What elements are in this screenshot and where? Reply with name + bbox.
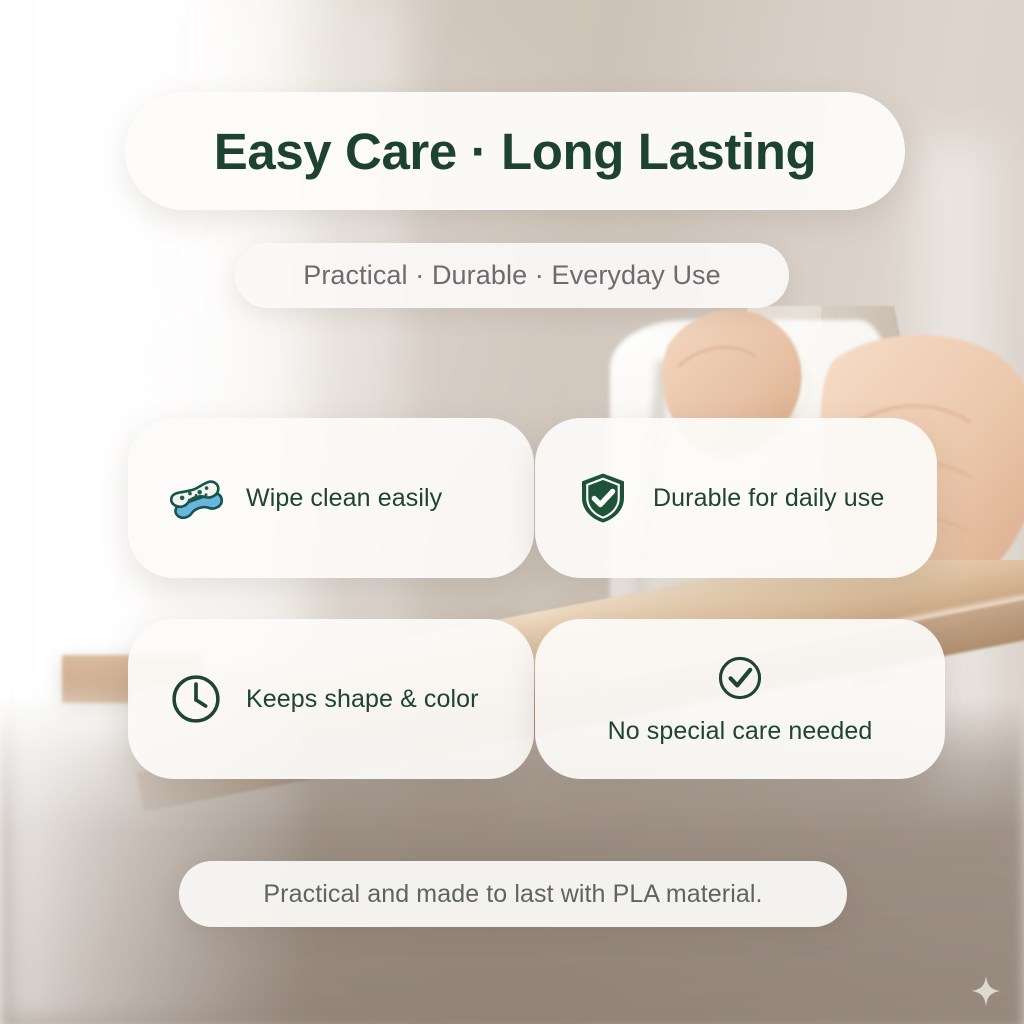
- clock-icon: [168, 671, 224, 727]
- footer-pill: Practical and made to last with PLA mate…: [179, 861, 847, 927]
- subtitle-pill: Practical · Durable · Everyday Use: [235, 243, 789, 308]
- sponge-icon: [168, 470, 224, 526]
- feature-label: No special care needed: [608, 717, 873, 746]
- feature-card-durable[interactable]: Durable for daily use: [535, 418, 937, 578]
- infographic-canvas: Easy Care · Long Lasting Practical · Dur…: [0, 0, 1024, 1024]
- feature-label: Wipe clean easily: [246, 484, 442, 513]
- footer-text: Practical and made to last with PLA mate…: [263, 880, 762, 909]
- page-title: Easy Care · Long Lasting: [214, 122, 817, 181]
- check-circle-icon: [715, 653, 765, 703]
- page-subtitle: Practical · Durable · Everyday Use: [303, 260, 721, 291]
- shield-check-icon: [575, 470, 631, 526]
- title-pill: Easy Care · Long Lasting: [125, 92, 905, 210]
- feature-label: Durable for daily use: [653, 484, 884, 513]
- feature-card-wipe-clean[interactable]: Wipe clean easily: [128, 418, 534, 578]
- sparkle-icon: [972, 976, 1000, 1006]
- feature-card-no-special-care[interactable]: No special care needed: [535, 619, 945, 779]
- feature-card-keeps-shape[interactable]: Keeps shape & color: [128, 619, 534, 779]
- content-overlay: Easy Care · Long Lasting Practical · Dur…: [0, 0, 1024, 1024]
- feature-label: Keeps shape & color: [246, 685, 479, 714]
